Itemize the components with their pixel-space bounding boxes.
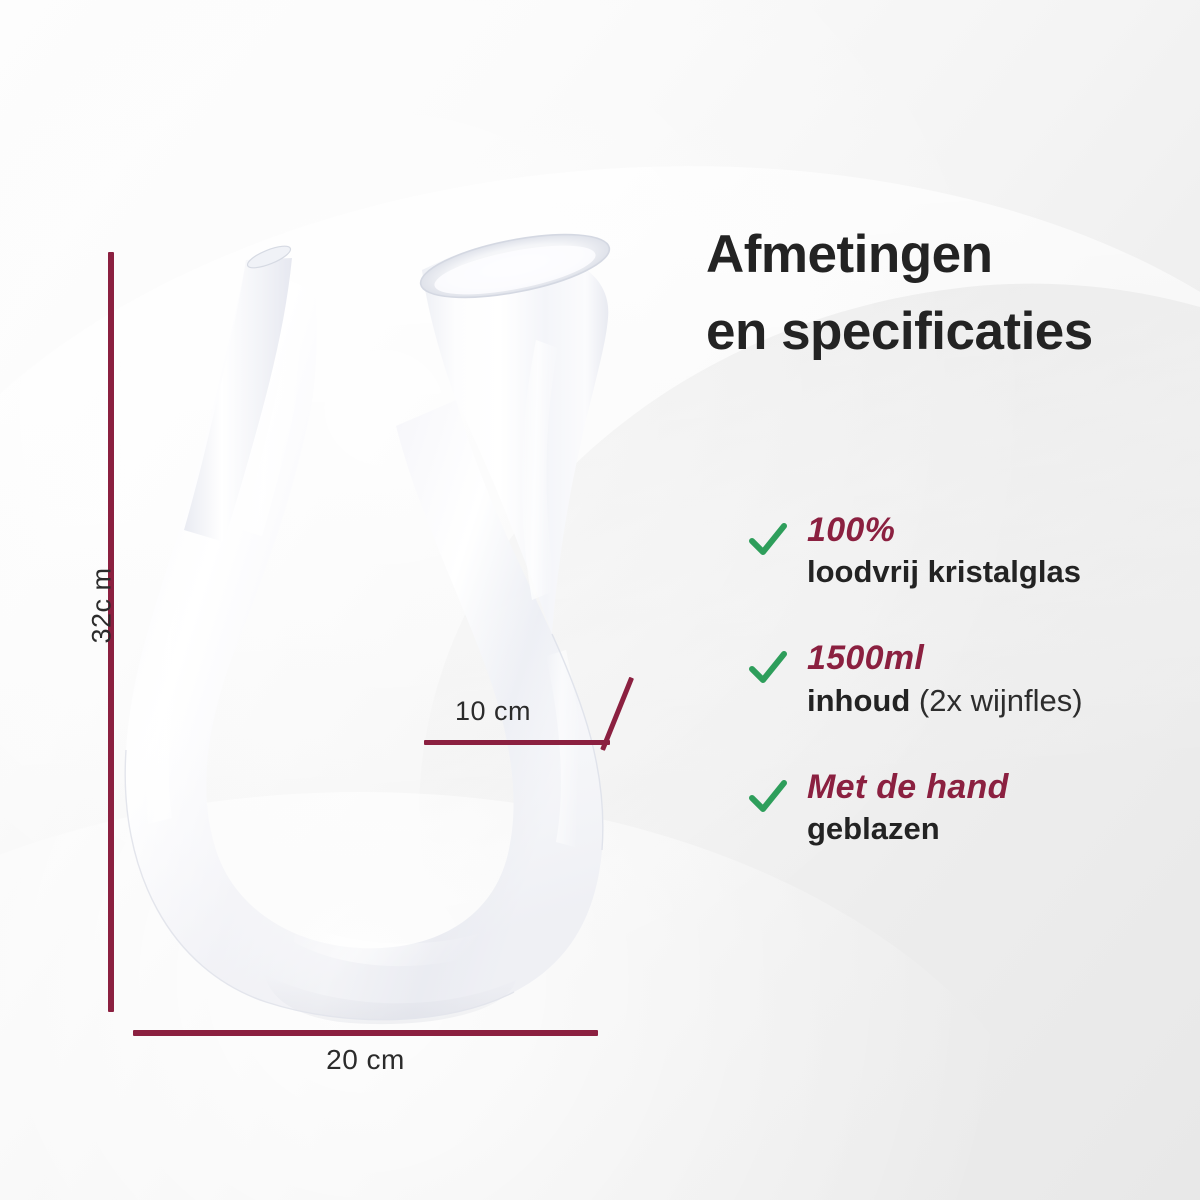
- page-title-line-2: en specificaties: [706, 293, 1166, 371]
- width-label: 20 cm: [133, 1044, 598, 1076]
- height-label: 32c m: [87, 546, 118, 666]
- check-icon: [745, 644, 791, 690]
- feature-accent: 1500ml: [807, 638, 1175, 678]
- headline-block: Afmetingen en specificaties: [706, 180, 1166, 407]
- check-icon: [745, 773, 791, 819]
- feature-item-material: 100% loodvrij kristalglas: [745, 510, 1175, 592]
- check-icon: [745, 516, 791, 562]
- feature-strong: geblazen: [807, 811, 940, 846]
- wine-decanter-illustration: [96, 230, 656, 1040]
- feature-list: 100% loodvrij kristalglas 1500ml inhoud …: [745, 510, 1175, 849]
- depth-measure-line: [424, 740, 610, 745]
- page-title: Afmetingen en specificaties: [706, 216, 1166, 372]
- width-measure-line: [133, 1030, 598, 1036]
- feature-item-capacity: 1500ml inhoud (2x wijnfles): [745, 638, 1175, 720]
- feature-light: (2x wijnfles): [910, 683, 1082, 718]
- feature-text: Met de hand geblazen: [807, 767, 1175, 849]
- feature-text: 100% loodvrij kristalglas: [807, 510, 1175, 592]
- feature-item-handblown: Met de hand geblazen: [745, 767, 1175, 849]
- page-title-line-1: Afmetingen: [706, 216, 1166, 294]
- feature-strong: loodvrij kristalglas: [807, 554, 1081, 589]
- feature-description: geblazen: [807, 809, 1175, 849]
- depth-label: 10 cm: [455, 696, 531, 727]
- product-infographic: 32c m 20 cm 10 cm Afmetingen en specific…: [0, 0, 1200, 1200]
- feature-strong: inhoud: [807, 683, 910, 718]
- product-image: [96, 230, 656, 1040]
- feature-accent: 100%: [807, 510, 1175, 550]
- feature-description: loodvrij kristalglas: [807, 552, 1175, 592]
- feature-text: 1500ml inhoud (2x wijnfles): [807, 638, 1175, 720]
- feature-accent: Met de hand: [807, 767, 1175, 807]
- feature-description: inhoud (2x wijnfles): [807, 681, 1175, 721]
